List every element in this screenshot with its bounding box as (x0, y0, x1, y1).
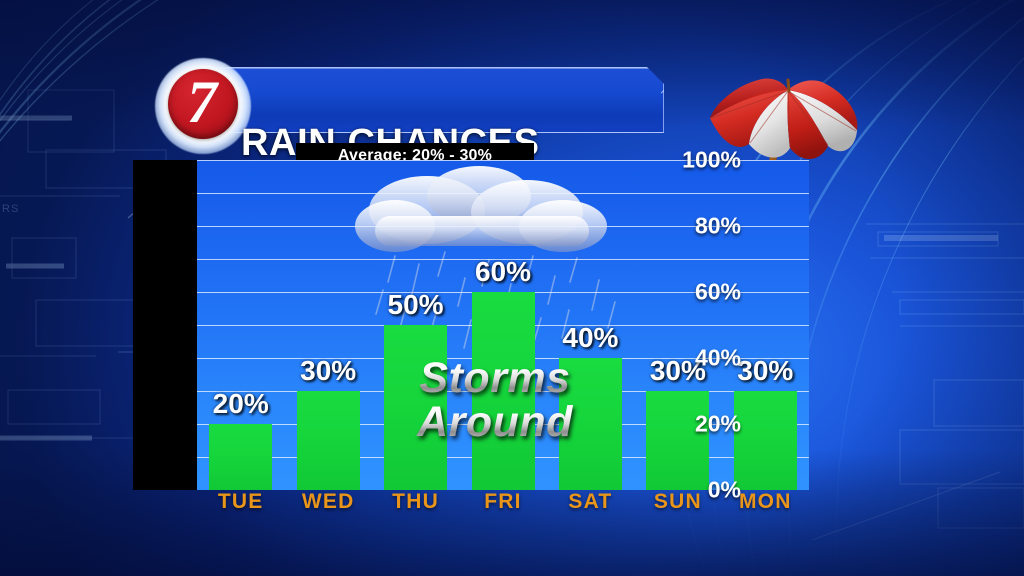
y-axis-tick-label: 60% (695, 279, 741, 306)
bar-tue (209, 424, 272, 490)
bar-mon (734, 391, 797, 490)
bar-value-label: 30% (737, 355, 793, 387)
day-label-mon: MON (739, 490, 792, 514)
logo-seven-numeral: 7 (168, 69, 238, 139)
storms-around-overlay: Storms Around (380, 357, 610, 457)
day-label-thu: THU (392, 490, 439, 514)
day-label-sat: SAT (568, 490, 612, 514)
channel-7-logo: 7 (155, 58, 251, 154)
bar-value-label: 30% (300, 355, 356, 387)
weather-graphic: RS 7 RAIN CHANCES NEXT 7 DAYS Average: 2… (0, 0, 1024, 576)
y-axis-tick-label: 100% (682, 147, 741, 174)
y-axis-tick-label: 20% (695, 411, 741, 438)
overlay-line-2: Around (380, 401, 610, 445)
bar-value-label: 40% (562, 322, 618, 354)
bar-value-label: 60% (475, 256, 531, 288)
y-axis-tick-label: 40% (695, 345, 741, 372)
day-label-sun: SUN (654, 490, 702, 514)
bar-value-label: 20% (213, 388, 269, 420)
y-axis-strip (133, 160, 197, 490)
x-axis-day-labels: TUEWEDTHUFRISATSUNMON (197, 490, 809, 524)
bar-wed (297, 391, 360, 490)
y-axis-tick-label: 80% (695, 213, 741, 240)
day-label-tue: TUE (218, 490, 264, 514)
day-label-fri: FRI (484, 490, 521, 514)
gridline (197, 193, 809, 194)
overlay-line-1: Storms (380, 357, 610, 401)
day-label-wed: WED (302, 490, 355, 514)
bar-sun (646, 391, 709, 490)
bar-value-label: 50% (388, 289, 444, 321)
